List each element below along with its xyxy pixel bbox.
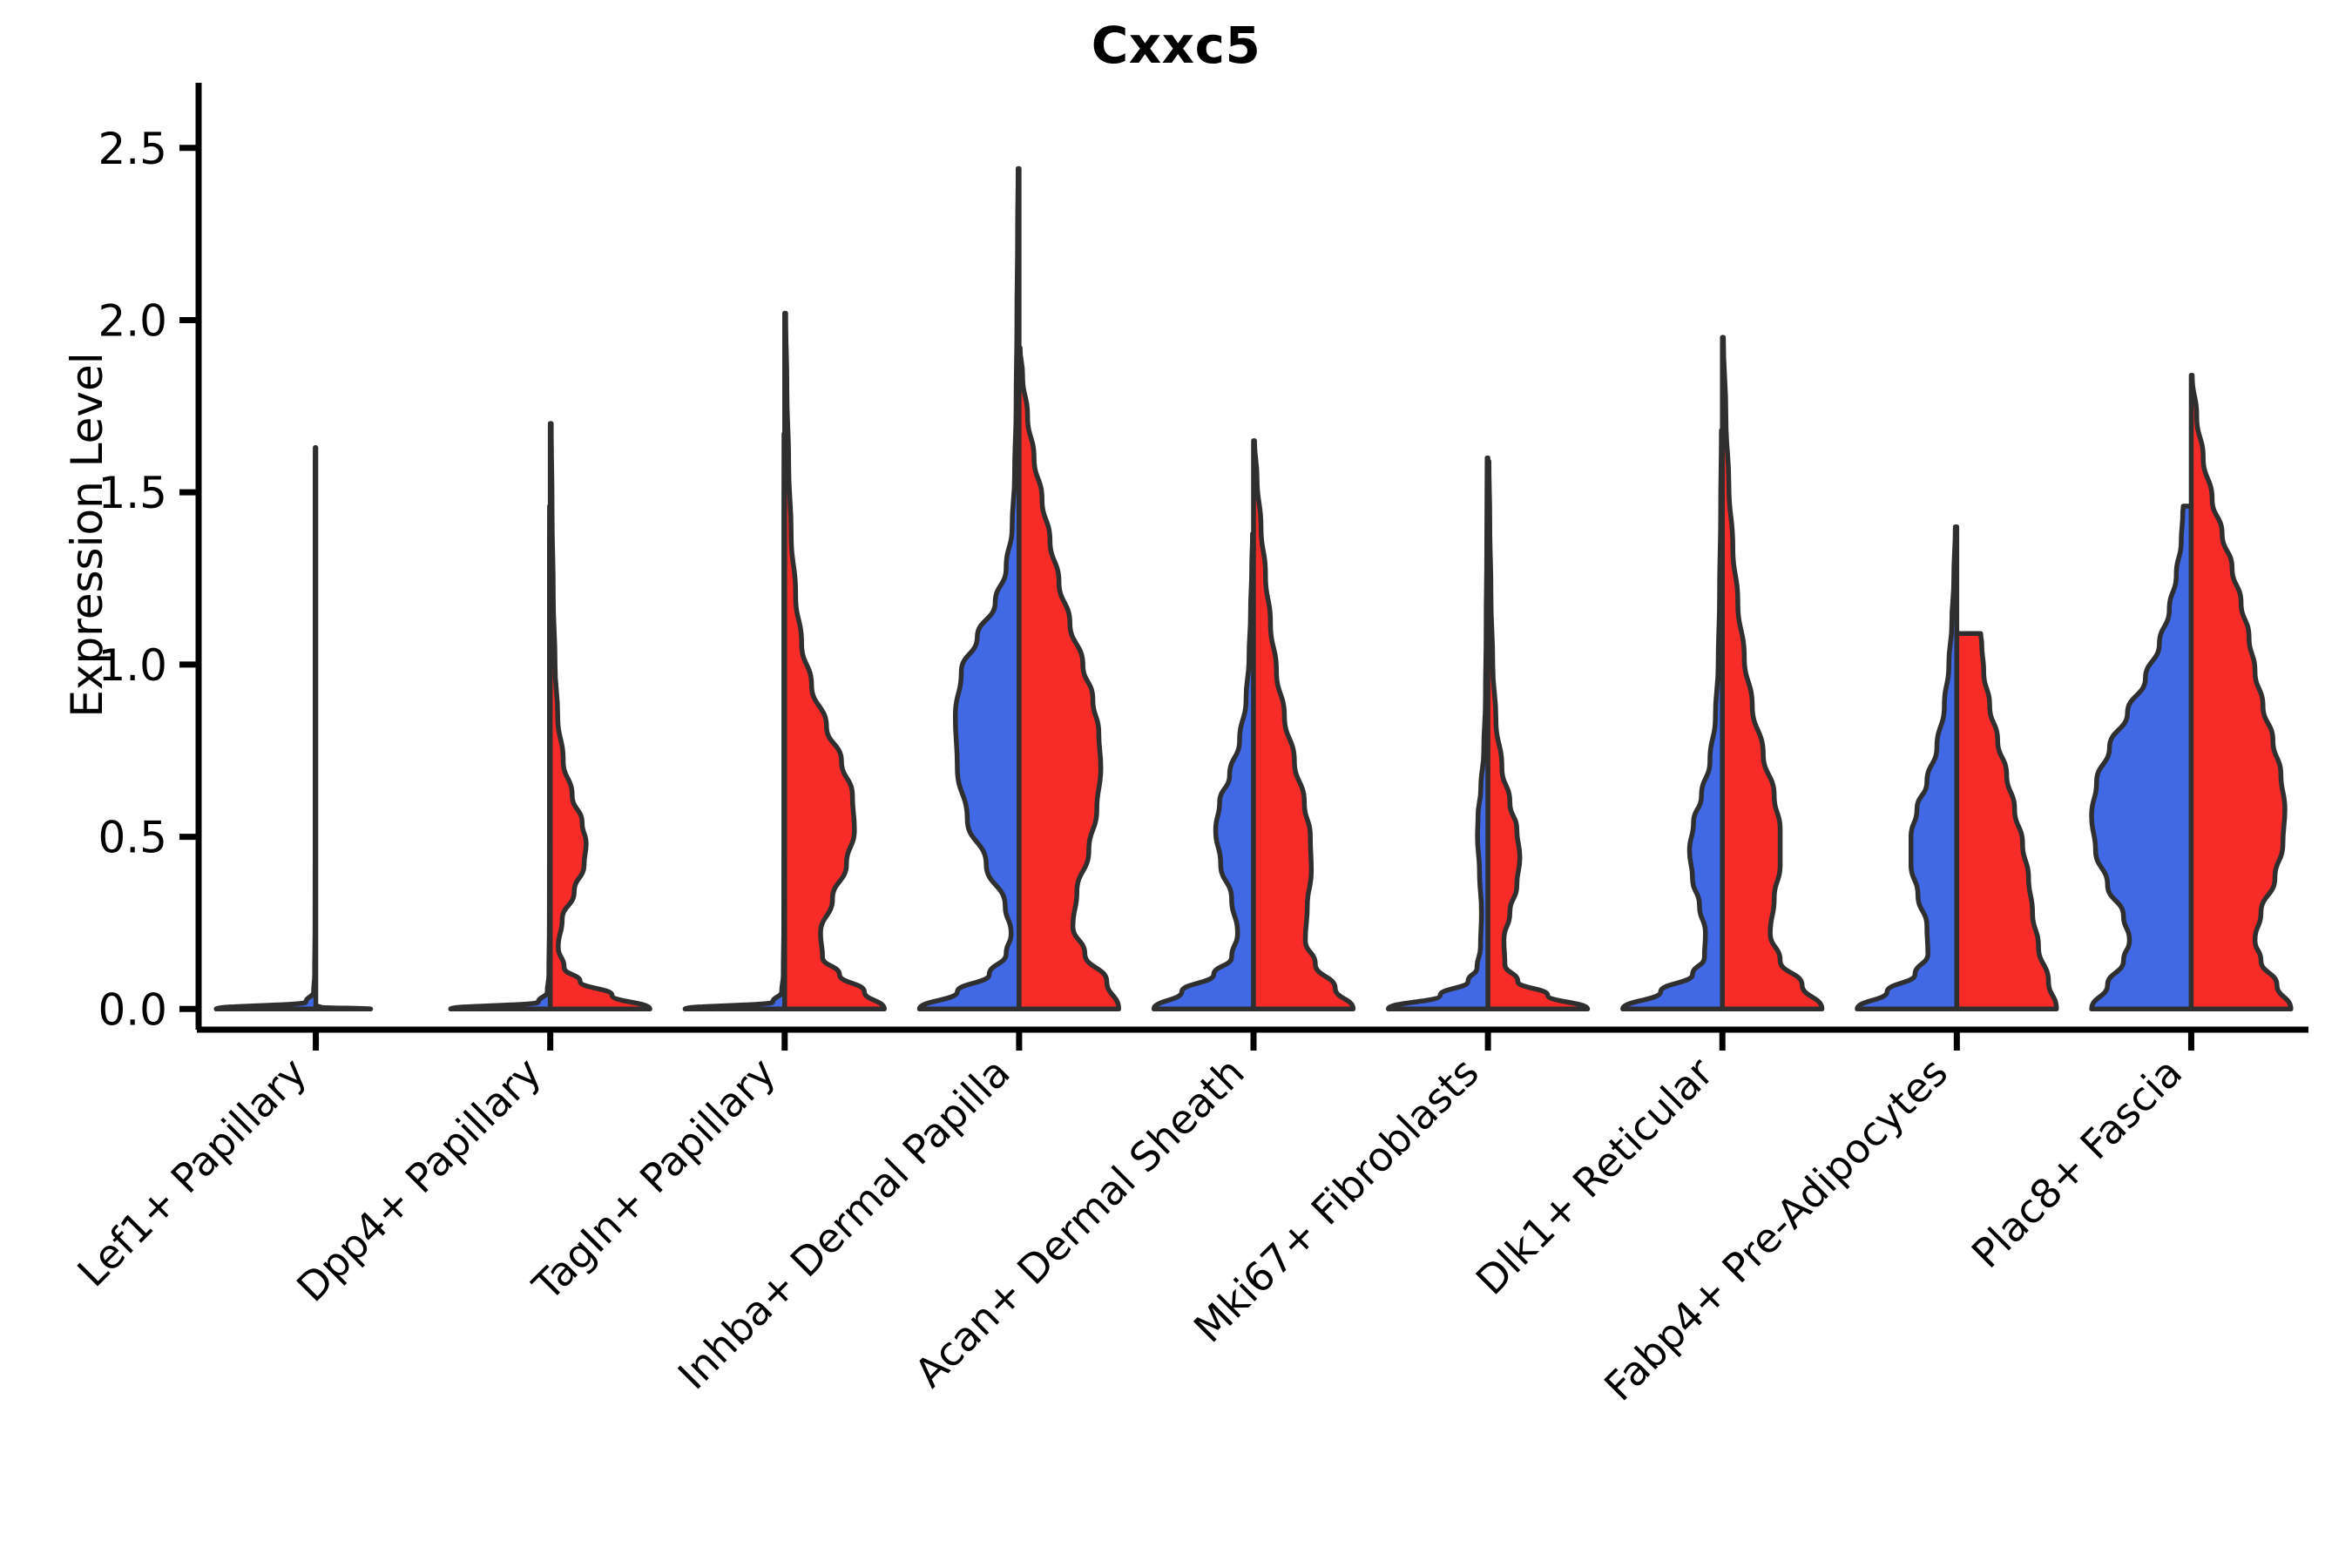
violin-half: [1154, 534, 1254, 1010]
x-tick-label: Lef1+ Papillary: [68, 1049, 315, 1296]
violin-shape: [216, 448, 315, 1010]
violin-half: [685, 434, 784, 1009]
violin-chart-canvas: 0.00.51.01.52.02.5 Lef1+ PapillaryDpp4+ …: [0, 0, 2352, 1568]
y-tick-label: 1.0: [98, 640, 167, 691]
violin-shape: [1722, 337, 1821, 1009]
x-tick-label: Plac8+ Fascia: [1963, 1049, 2191, 1277]
x-axis-ticks: [316, 1030, 2192, 1051]
x-tick-label: Dpp4+ Papillary: [287, 1049, 550, 1311]
violin-half: [1019, 348, 1119, 1009]
violin-shape: [2191, 375, 2290, 1010]
x-axis-tick-labels: Lef1+ PapillaryDpp4+ PapillaryTagIn+ Pap…: [68, 1049, 2191, 1410]
violin-shape: [1623, 430, 1722, 1009]
violin-half: [1389, 458, 1488, 1010]
violin-half: [920, 168, 1019, 1009]
violin-bodies: [216, 168, 2291, 1009]
violin-shape: [1154, 534, 1254, 1010]
violin-shape: [1957, 633, 2056, 1009]
violin-half: [450, 506, 550, 1009]
violin-half: [316, 1005, 371, 1009]
violin-shape: [785, 314, 884, 1010]
violin-half: [1488, 462, 1587, 1010]
violin-shape: [920, 168, 1019, 1009]
violin-shape: [685, 434, 784, 1009]
violin-plot-figure: Cxxc5 Expression Level 0.00.51.01.52.02.…: [0, 0, 2352, 1568]
violin-shape: [1389, 458, 1488, 1010]
violin-shape: [2092, 506, 2191, 1009]
violin-shape: [316, 1005, 371, 1009]
y-tick-label: 0.5: [98, 813, 167, 863]
violin-half: [1623, 430, 1722, 1009]
violin-half: [1254, 441, 1353, 1009]
y-tick-label: 2.0: [98, 295, 167, 346]
x-tick-label: Dlk1+ Reticular: [1467, 1049, 1722, 1304]
violin-half: [2092, 506, 2191, 1009]
violin-shape: [551, 423, 650, 1009]
violin-shape: [1488, 462, 1587, 1010]
y-tick-label: 1.5: [98, 468, 167, 518]
violin-shape: [1254, 441, 1353, 1009]
violin-half: [551, 423, 650, 1009]
violin-half: [1957, 633, 2056, 1009]
x-tick-label: TagIn+ Papillary: [523, 1049, 784, 1310]
violin-shape: [1857, 527, 1957, 1010]
violin-half: [1722, 337, 1821, 1009]
y-axis-ticks: 0.00.51.01.52.02.5: [98, 124, 199, 1036]
violin-half: [216, 448, 315, 1010]
violin-shape: [450, 506, 550, 1009]
violin-half: [785, 314, 884, 1010]
violin-half: [1857, 527, 1957, 1010]
violin-shape: [1019, 348, 1119, 1009]
y-tick-label: 0.0: [98, 984, 167, 1035]
violin-half: [2191, 375, 2290, 1010]
y-tick-label: 2.5: [98, 124, 167, 174]
